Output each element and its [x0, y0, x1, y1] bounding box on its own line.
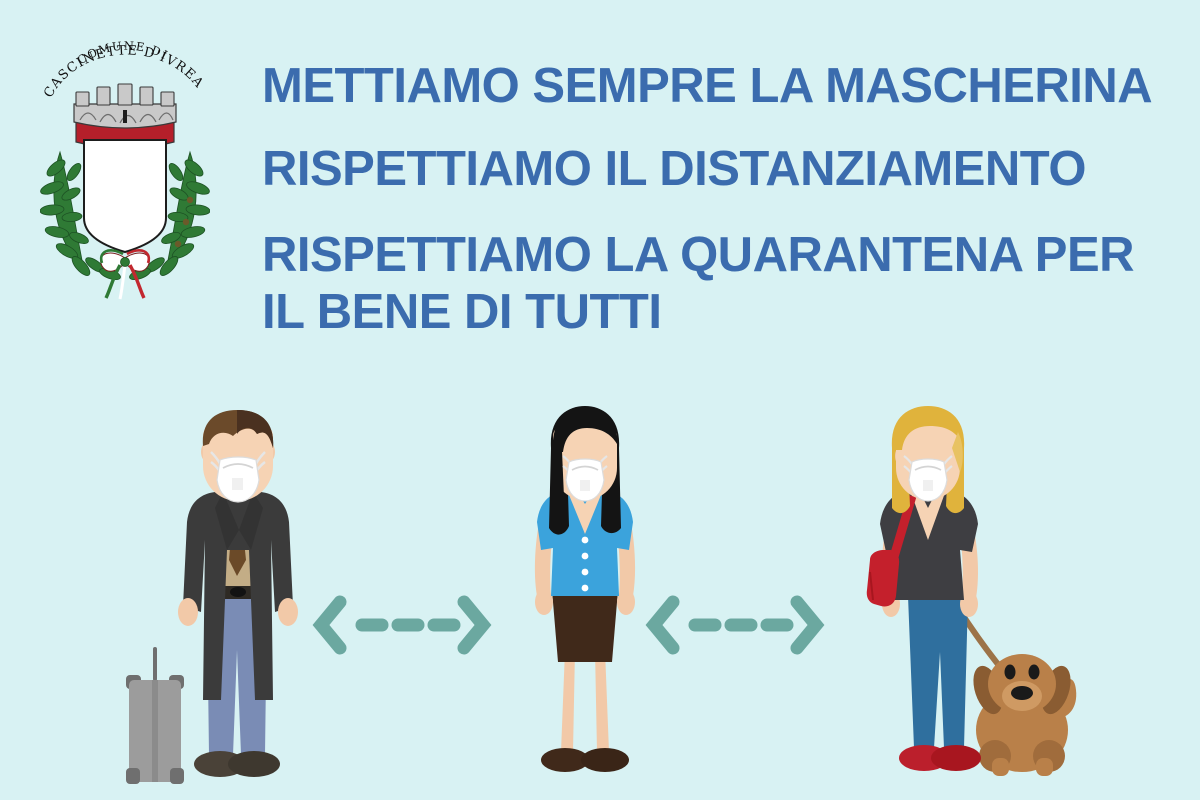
shoe-right	[931, 745, 981, 771]
dog-eye-left	[1005, 665, 1016, 680]
arrow-head-right	[464, 602, 483, 648]
crest-crown	[74, 84, 176, 149]
leg-right	[595, 650, 609, 752]
skirt	[552, 590, 618, 662]
figure-blonde-woman-with-dog	[840, 400, 1100, 800]
arrow-head-right	[797, 602, 816, 648]
dog-eye-right	[1029, 665, 1040, 680]
shoe-right	[581, 748, 629, 772]
figure-man-with-suitcase	[115, 400, 345, 800]
hand-left	[178, 598, 198, 626]
figures-scene	[0, 395, 1200, 800]
shoe-right	[228, 751, 280, 777]
leg-left	[561, 650, 575, 752]
hand-left	[535, 589, 553, 615]
suitcase	[126, 647, 184, 784]
headline-line-1: METTIAMO SEMPRE LA MASCHERINA	[262, 62, 1167, 111]
arrow-head-left	[321, 602, 340, 648]
jeans	[908, 596, 968, 748]
poster-canvas: COMUNE DI CASCINETTE D'IVREA	[0, 0, 1200, 800]
hand-right	[278, 598, 298, 626]
comune-coat-of-arms: COMUNE DI CASCINETTE D'IVREA	[40, 22, 210, 302]
headline-line-2: RISPETTIAMO IL DISTANZIAMENTO	[262, 141, 1167, 197]
arrow-head-left	[654, 602, 673, 648]
social-distance-arrow-1	[312, 590, 492, 660]
headline-line-3: RISPETTIAMO LA QUARANTENA PER IL BENE DI…	[262, 227, 1167, 340]
hand-right	[617, 589, 635, 615]
crest-shield	[84, 131, 167, 258]
headline-block: METTIAMO SEMPRE LA MASCHERINA RISPETTIAM…	[262, 62, 1167, 340]
social-distance-arrow-2	[645, 590, 825, 660]
dog	[968, 654, 1076, 776]
dog-nose	[1011, 686, 1033, 700]
